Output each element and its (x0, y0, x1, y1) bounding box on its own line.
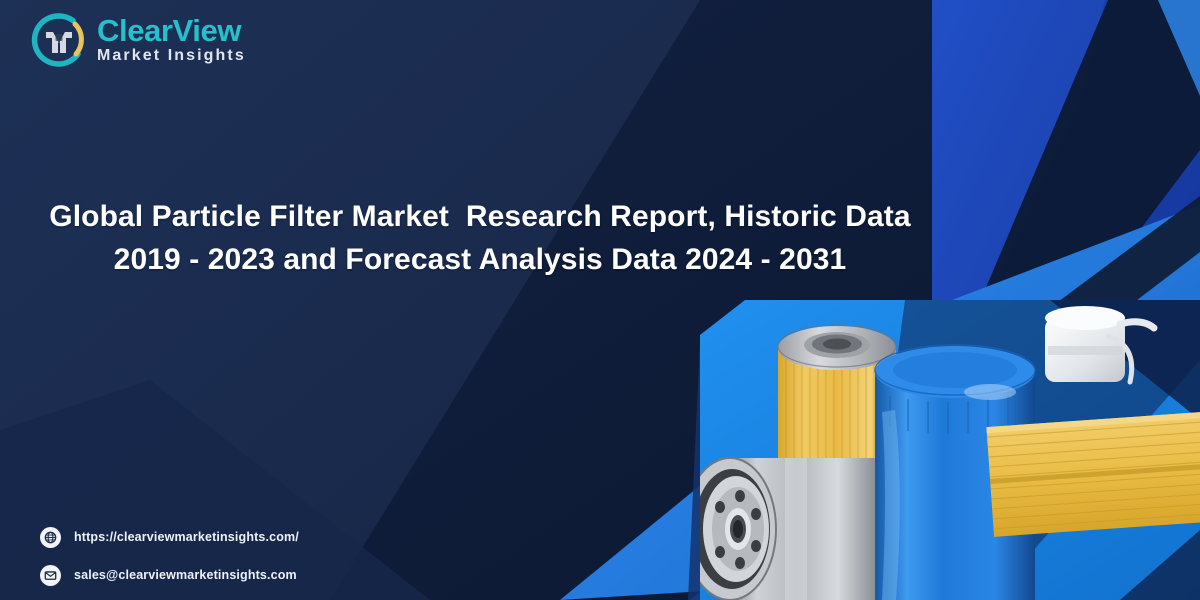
report-title: Global Particle Filter Market Research R… (30, 196, 930, 281)
contact-row-website[interactable]: https://clearviewmarketinsights.com/ (40, 526, 299, 548)
contact-row-email[interactable]: sales@clearviewmarketinsights.com (40, 564, 299, 586)
brand-wordmark: ClearView Market Insights (97, 15, 246, 66)
brand-logo[interactable]: ClearView Market Insights (30, 9, 246, 71)
clearview-circular-chart-mark-icon (30, 11, 88, 69)
envelope-icon (40, 565, 61, 586)
brand-name-secondary: Market Insights (97, 47, 246, 65)
contact-block: https://clearviewmarketinsights.com/ sal… (40, 526, 299, 586)
website-url[interactable]: https://clearviewmarketinsights.com/ (74, 530, 299, 544)
report-banner: ClearView Market Insights Global Particl… (0, 0, 1200, 600)
brand-name-primary: ClearView (97, 15, 246, 47)
globe-icon (40, 527, 61, 548)
product-photo-filters (690, 300, 1200, 600)
email-address[interactable]: sales@clearviewmarketinsights.com (74, 568, 297, 582)
